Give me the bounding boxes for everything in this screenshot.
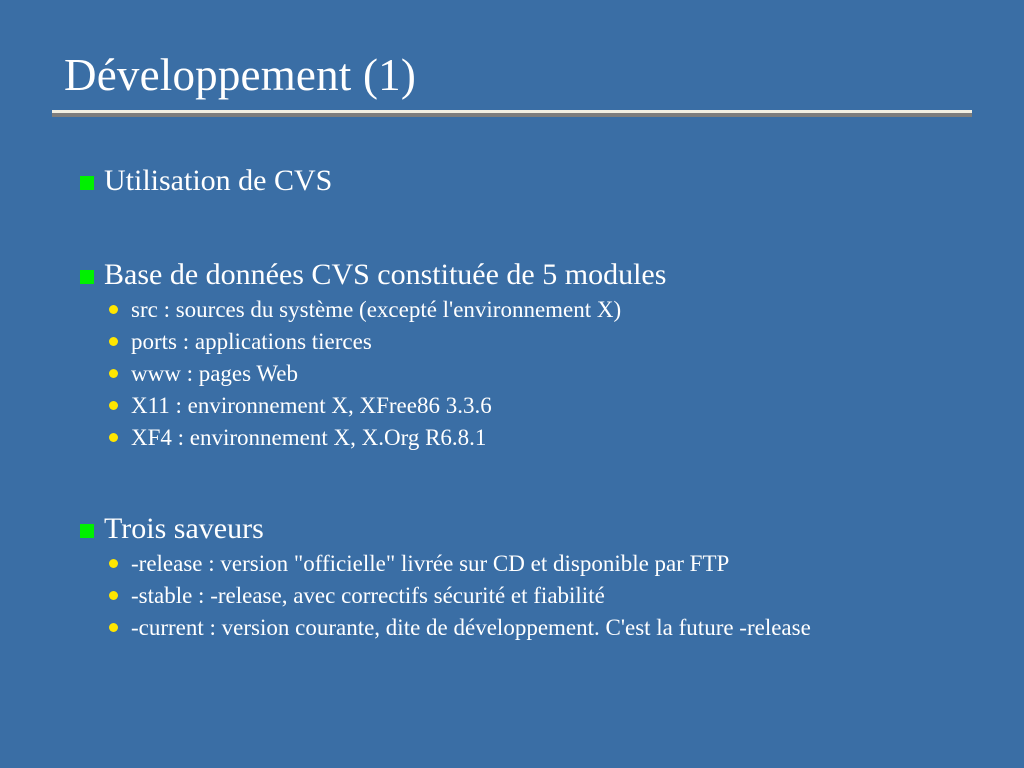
bullet-group-3: Trois saveurs -release : version "offici… [78, 510, 978, 644]
square-bullet-icon [80, 176, 94, 190]
dot-bullet-icon [109, 337, 118, 346]
bullet-group-2: Base de données CVS constituée de 5 modu… [78, 256, 978, 454]
square-bullet-icon [80, 524, 94, 538]
dot-bullet-icon [109, 433, 118, 442]
list-item-label: -stable : -release, avec correctifs sécu… [131, 583, 605, 608]
slide: Développement (1) Utilisation de CVS Bas… [0, 0, 1024, 768]
list-item: ports : applications tierces [78, 326, 978, 358]
sub-bullet-list: src : sources du système (excepté l'envi… [78, 294, 978, 454]
list-item-label: X11 : environnement X, XFree86 3.3.6 [131, 393, 492, 418]
bullet-heading: Trois saveurs [78, 510, 978, 548]
title-divider-shadow [52, 113, 972, 117]
bullet-heading-label: Trois saveurs [104, 512, 264, 545]
list-item-label: src : sources du système (excepté l'envi… [131, 297, 621, 322]
list-item-label: ports : applications tierces [131, 329, 372, 354]
sub-bullet-list: -release : version "officielle" livrée s… [78, 548, 978, 644]
list-item-label: -current : version courante, dite de dév… [131, 615, 811, 640]
dot-bullet-icon [109, 623, 118, 632]
page-title: Développement (1) [52, 48, 972, 102]
spacer [78, 200, 978, 256]
bullet-heading-label: Utilisation de CVS [104, 164, 332, 197]
bullet-heading: Base de données CVS constituée de 5 modu… [78, 256, 978, 294]
list-item-label: www : pages Web [131, 361, 298, 386]
dot-bullet-icon [109, 401, 118, 410]
dot-bullet-icon [109, 369, 118, 378]
list-item: XF4 : environnement X, X.Org R6.8.1 [78, 422, 978, 454]
square-bullet-icon [80, 270, 94, 284]
list-item: -release : version "officielle" livrée s… [78, 548, 978, 580]
list-item: src : sources du système (excepté l'envi… [78, 294, 978, 326]
list-item: www : pages Web [78, 358, 978, 390]
spacer [78, 454, 978, 510]
list-item-label: XF4 : environnement X, X.Org R6.8.1 [131, 425, 486, 450]
list-item-label: -release : version "officielle" livrée s… [131, 551, 729, 576]
list-item: -stable : -release, avec correctifs sécu… [78, 580, 978, 612]
dot-bullet-icon [109, 591, 118, 600]
slide-body: Utilisation de CVS Base de données CVS c… [78, 162, 978, 644]
title-block: Développement (1) [52, 48, 972, 102]
list-item: X11 : environnement X, XFree86 3.3.6 [78, 390, 978, 422]
dot-bullet-icon [109, 559, 118, 568]
list-item: -current : version courante, dite de dév… [78, 612, 978, 644]
bullet-group-1: Utilisation de CVS [78, 162, 978, 200]
dot-bullet-icon [109, 305, 118, 314]
bullet-heading: Utilisation de CVS [78, 162, 978, 200]
bullet-heading-label: Base de données CVS constituée de 5 modu… [104, 258, 666, 291]
